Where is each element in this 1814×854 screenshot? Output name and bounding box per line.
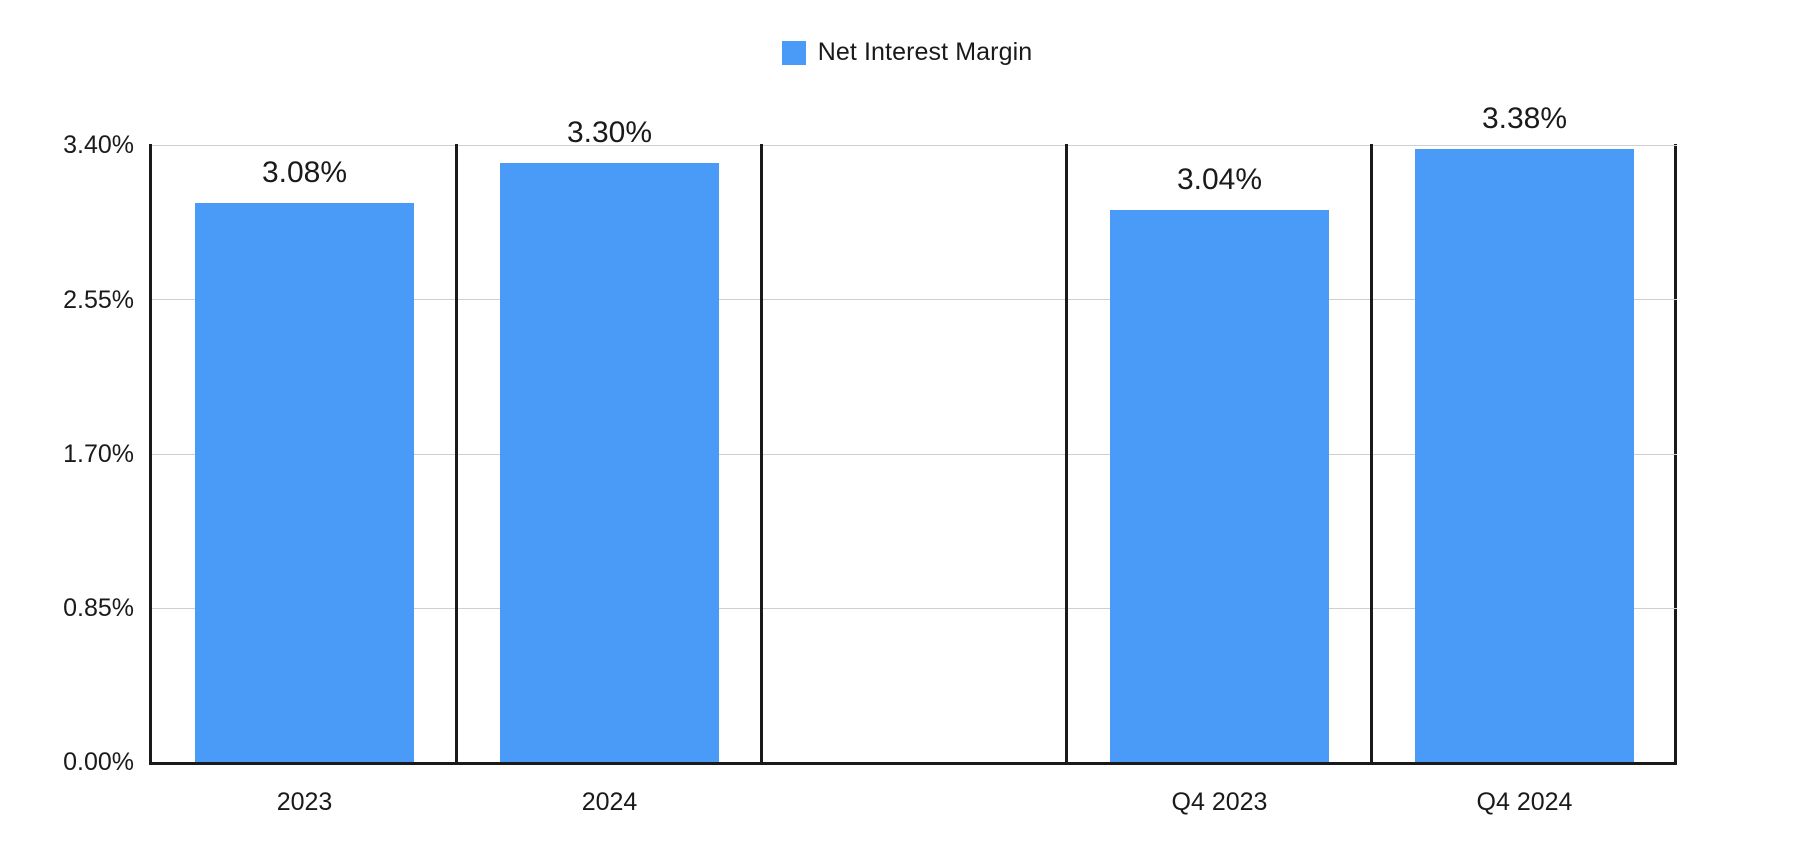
gridline-3-40 [152,145,1677,146]
x-axis-tick-label-1: 2024 [457,790,762,815]
legend-color-swatch-icon [782,41,806,65]
bar-value-label-2023: 3.08% [152,158,457,188]
plot-area [152,145,1677,762]
bar-q4-2023[interactable] [1110,210,1329,762]
y-axis-tick-label-2: 1.70% [14,442,134,467]
legend-label: Net Interest Margin [818,40,1033,65]
bar-value-label-q4-2023: 3.04% [1067,165,1372,195]
x-axis-tick-label-3: Q4 2023 [1067,790,1372,815]
bar-value-label-2024: 3.30% [457,118,762,148]
y-axis-tick-label-4: 0.00% [14,750,134,775]
legend-item-net-interest-margin[interactable]: Net Interest Margin [782,40,1033,65]
bar-2023[interactable] [195,203,414,762]
bar-q4-2024[interactable] [1415,149,1634,762]
x-axis-line [149,762,1677,765]
y-axis-tick-label-3: 0.85% [14,596,134,621]
category-separator-3 [1065,144,1068,763]
bar-value-label-q4-2024: 3.38% [1372,104,1677,134]
bar-chart: Net Interest Margin 3.40% 2.55% 1.70% 0.… [0,0,1814,854]
y-axis-tick-label-0: 3.40% [14,133,134,158]
chart-legend: Net Interest Margin [0,40,1814,65]
x-axis-tick-label-0: 2023 [152,790,457,815]
x-axis-tick-label-4: Q4 2024 [1372,790,1677,815]
bar-2024[interactable] [500,163,719,762]
category-separator-1 [455,144,458,763]
category-separator-2 [760,144,763,763]
category-separator-4 [1370,144,1373,763]
y-axis-tick-label-1: 2.55% [14,288,134,313]
